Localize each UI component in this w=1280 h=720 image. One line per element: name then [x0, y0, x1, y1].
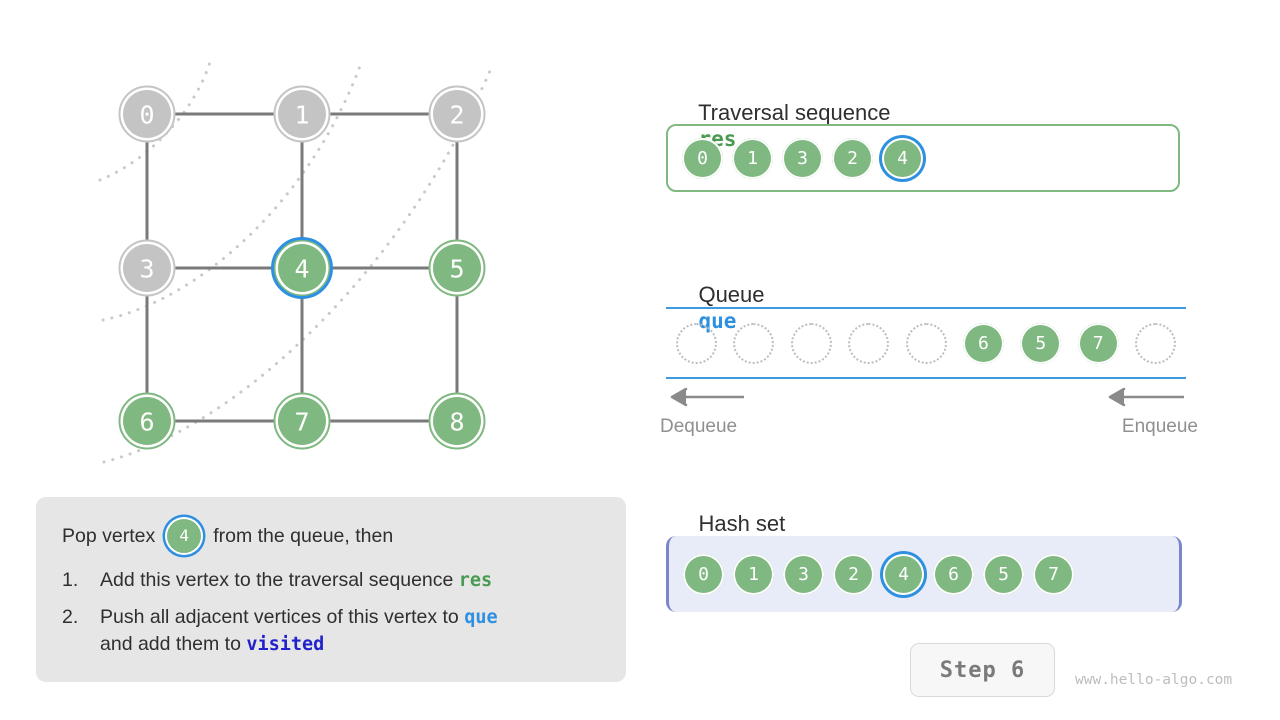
- graph-node-4[interactable]: 4: [273, 239, 332, 298]
- caption-box: Pop vertex 4 from the queue, then 1.Add …: [36, 497, 626, 682]
- queue-empty-slot: [1135, 323, 1176, 364]
- caption-step-number: 1.: [62, 567, 100, 594]
- visited-item: 7: [1033, 554, 1074, 595]
- watermark: www.hello-algo.com: [1075, 672, 1232, 688]
- node-label: 1: [294, 101, 309, 130]
- node-label: 8: [449, 408, 464, 437]
- right-panel: Traversal sequence res 01324 Queue que 6…: [660, 0, 1280, 720]
- graph-node-8[interactable]: 8: [429, 393, 486, 450]
- caption-code-token: que: [464, 607, 497, 628]
- node-label: 3: [139, 255, 154, 284]
- graph-node-0[interactable]: 0: [119, 86, 176, 143]
- res-item: 4: [882, 138, 923, 179]
- graph-canvas: 012345678: [0, 0, 640, 480]
- node-label: 0: [139, 101, 154, 130]
- res-container: 01324: [666, 124, 1180, 192]
- visited-title-text: Hash set: [698, 511, 785, 536]
- caption-code-token: visited: [246, 634, 324, 655]
- node-label: 4: [294, 255, 309, 284]
- visited-item: 5: [983, 554, 1024, 595]
- caption-vertex-badge: 4: [167, 519, 201, 553]
- caption-text-after: from the queue, then: [213, 521, 393, 551]
- graph-node-3[interactable]: 3: [119, 240, 176, 297]
- graph-node-6[interactable]: 6: [119, 393, 176, 450]
- graph-node-2[interactable]: 2: [429, 86, 486, 143]
- res-item: 3: [782, 138, 823, 179]
- node-label: 5: [449, 255, 464, 284]
- visited-item: 0: [683, 554, 724, 595]
- visited-item: 3: [783, 554, 824, 595]
- queue-empty-slot: [848, 323, 889, 364]
- node-label: 2: [449, 101, 464, 130]
- node-label: 6: [139, 408, 154, 437]
- enqueue-label: Enqueue: [1122, 416, 1198, 438]
- caption-step-number: 2.: [62, 604, 100, 631]
- queue-item: 7: [1078, 323, 1119, 364]
- graph-panel: 012345678: [0, 0, 640, 480]
- graph-node-5[interactable]: 5: [429, 240, 486, 297]
- res-item: 1: [732, 138, 773, 179]
- caption-text-before: Pop vertex: [62, 521, 155, 551]
- queue-empty-slot: [676, 323, 717, 364]
- dequeue-label: Dequeue: [660, 416, 737, 438]
- caption-line-primary: Pop vertex 4 from the queue, then: [62, 519, 600, 553]
- queue-direction-arrows: Dequeue Enqueue: [660, 384, 1198, 444]
- queue-arrow-svg: [660, 384, 1198, 410]
- res-title-text: Traversal sequence: [698, 100, 890, 125]
- queue-empty-slot: [733, 323, 774, 364]
- caption-step: 1.Add this vertex to the traversal seque…: [62, 567, 600, 594]
- caption-step-text: Push all adjacent vertices of this verte…: [100, 604, 498, 658]
- visited-item: 2: [833, 554, 874, 595]
- step-badge: Step 6: [910, 643, 1055, 697]
- caption-plain-text: Push all adjacent vertices of this verte…: [100, 606, 464, 628]
- caption-step: 2.Push all adjacent vertices of this ver…: [62, 604, 600, 658]
- visited-container: 01324657: [666, 536, 1182, 612]
- res-item: 0: [682, 138, 723, 179]
- visited-item: 1: [733, 554, 774, 595]
- caption-step-list: 1.Add this vertex to the traversal seque…: [62, 567, 600, 658]
- queue-item: 6: [963, 323, 1004, 364]
- caption-code-token: res: [459, 570, 492, 591]
- queue-container: 657: [666, 307, 1186, 379]
- caption-plain-text: and add them to: [100, 633, 246, 655]
- visited-item: 6: [933, 554, 974, 595]
- graph-node-7[interactable]: 7: [274, 393, 331, 450]
- queue-empty-slot: [906, 323, 947, 364]
- visited-item: 4: [883, 554, 924, 595]
- caption-plain-text: Add this vertex to the traversal sequenc…: [100, 569, 459, 591]
- queue-title-text: Queue: [698, 282, 764, 307]
- res-item: 2: [832, 138, 873, 179]
- queue-empty-slot: [791, 323, 832, 364]
- queue-item: 5: [1020, 323, 1061, 364]
- graph-node-1[interactable]: 1: [274, 86, 331, 143]
- caption-step-text: Add this vertex to the traversal sequenc…: [100, 567, 492, 594]
- node-label: 7: [294, 408, 309, 437]
- graph-nodes: 012345678: [119, 86, 486, 450]
